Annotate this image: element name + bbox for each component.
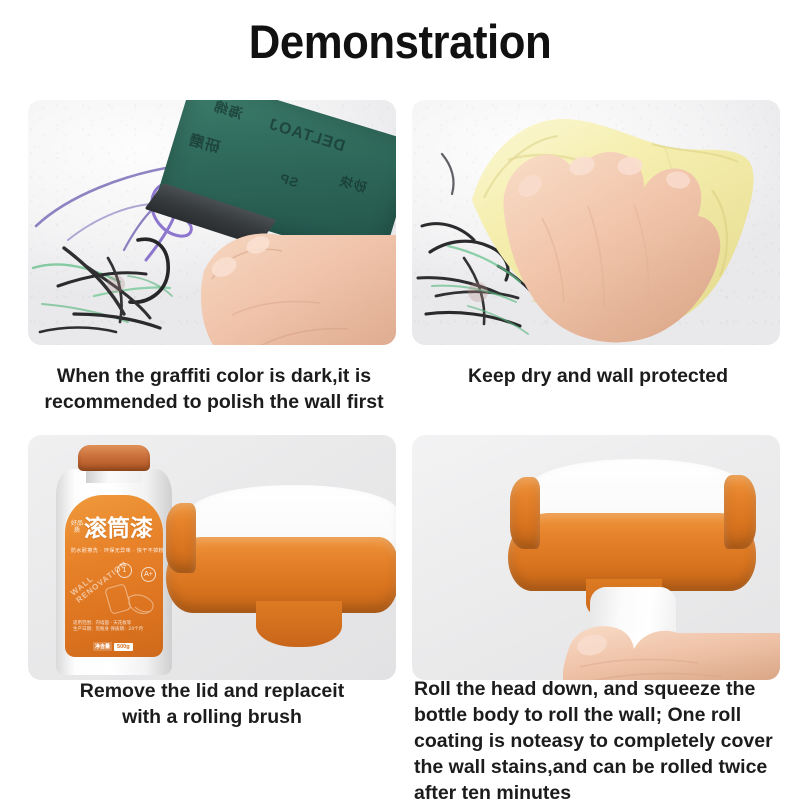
caption-step-1: When the graffiti color is dark,it is re… (28, 363, 400, 415)
hand (472, 122, 742, 345)
roller-frame-right-arm (724, 475, 756, 549)
label-footer-line-1: 适用范围：内墙面 · 天花板等 (73, 621, 131, 626)
bottle-cap (78, 445, 150, 471)
caption-line: When the graffiti color is dark,it is (28, 363, 400, 389)
caption-step-4: Roll the head down, and squeeze the bott… (414, 676, 792, 806)
label-product-name: 滚筒漆 (84, 517, 153, 542)
label-net-weight: 净含量 500g (93, 642, 133, 651)
caption-line: the wall stains,and can be rolled twice (414, 754, 792, 780)
caption-line: Roll the head down, and squeeze the (414, 676, 792, 702)
roller-brush-head (160, 485, 396, 660)
roller-frame-left-arm (166, 503, 196, 573)
caption-step-2: Keep dry and wall protected (412, 363, 784, 389)
caption-line: with a rolling brush (20, 704, 404, 730)
label-footer: 适用范围：内墙面 · 天花板等 生产日期：见瓶身 保质期：24个月 (73, 621, 143, 633)
demo-image-step-3: 好品质 滚筒漆 防水耐擦洗 · 环保无异味 · 快干不掉粉 · 遮盖力强劲 WA… (28, 435, 396, 680)
label-weight-value: 500g (114, 643, 133, 651)
label-weight-caption: 净含量 (93, 642, 112, 651)
bottle-label: 好品质 滚筒漆 防水耐擦洗 · 环保无异味 · 快干不掉粉 · 遮盖力强劲 WA… (65, 495, 163, 657)
demo-image-step-2 (412, 100, 780, 345)
caption-line: recommended to polish the wall first (28, 389, 400, 415)
label-badge-left: 1 (117, 563, 132, 578)
caption-line: after ten minutes (414, 780, 792, 806)
demonstration-page: Demonstration (0, 0, 800, 800)
hand (192, 175, 396, 345)
roller-connector-stub (256, 601, 342, 647)
label-brand-mark: 好品质 (70, 521, 84, 535)
demo-image-step-1: DELTAOJ 研磨 SP 海绵 砂块 (28, 100, 396, 345)
caption-step-3: Remove the lid and replaceit with a roll… (20, 678, 404, 730)
demo-image-step-4 (412, 435, 780, 680)
caption-line: bottle body to roll the wall; One roll (414, 702, 792, 728)
caption-line: Keep dry and wall protected (412, 363, 784, 389)
paint-bottle: 好品质 滚筒漆 防水耐擦洗 · 环保无异味 · 快干不掉粉 · 遮盖力强劲 WA… (50, 445, 178, 675)
page-title: Demonstration (28, 14, 772, 69)
label-roller-illustration (105, 577, 161, 621)
caption-line: Remove the lid and replaceit (20, 678, 404, 704)
hand (558, 611, 780, 680)
caption-line: coating is noteasy to completely cover (414, 728, 792, 754)
label-footer-line-2: 生产日期：见瓶身 保质期：24个月 (73, 627, 143, 632)
roller-frame-left-arm (510, 477, 540, 549)
